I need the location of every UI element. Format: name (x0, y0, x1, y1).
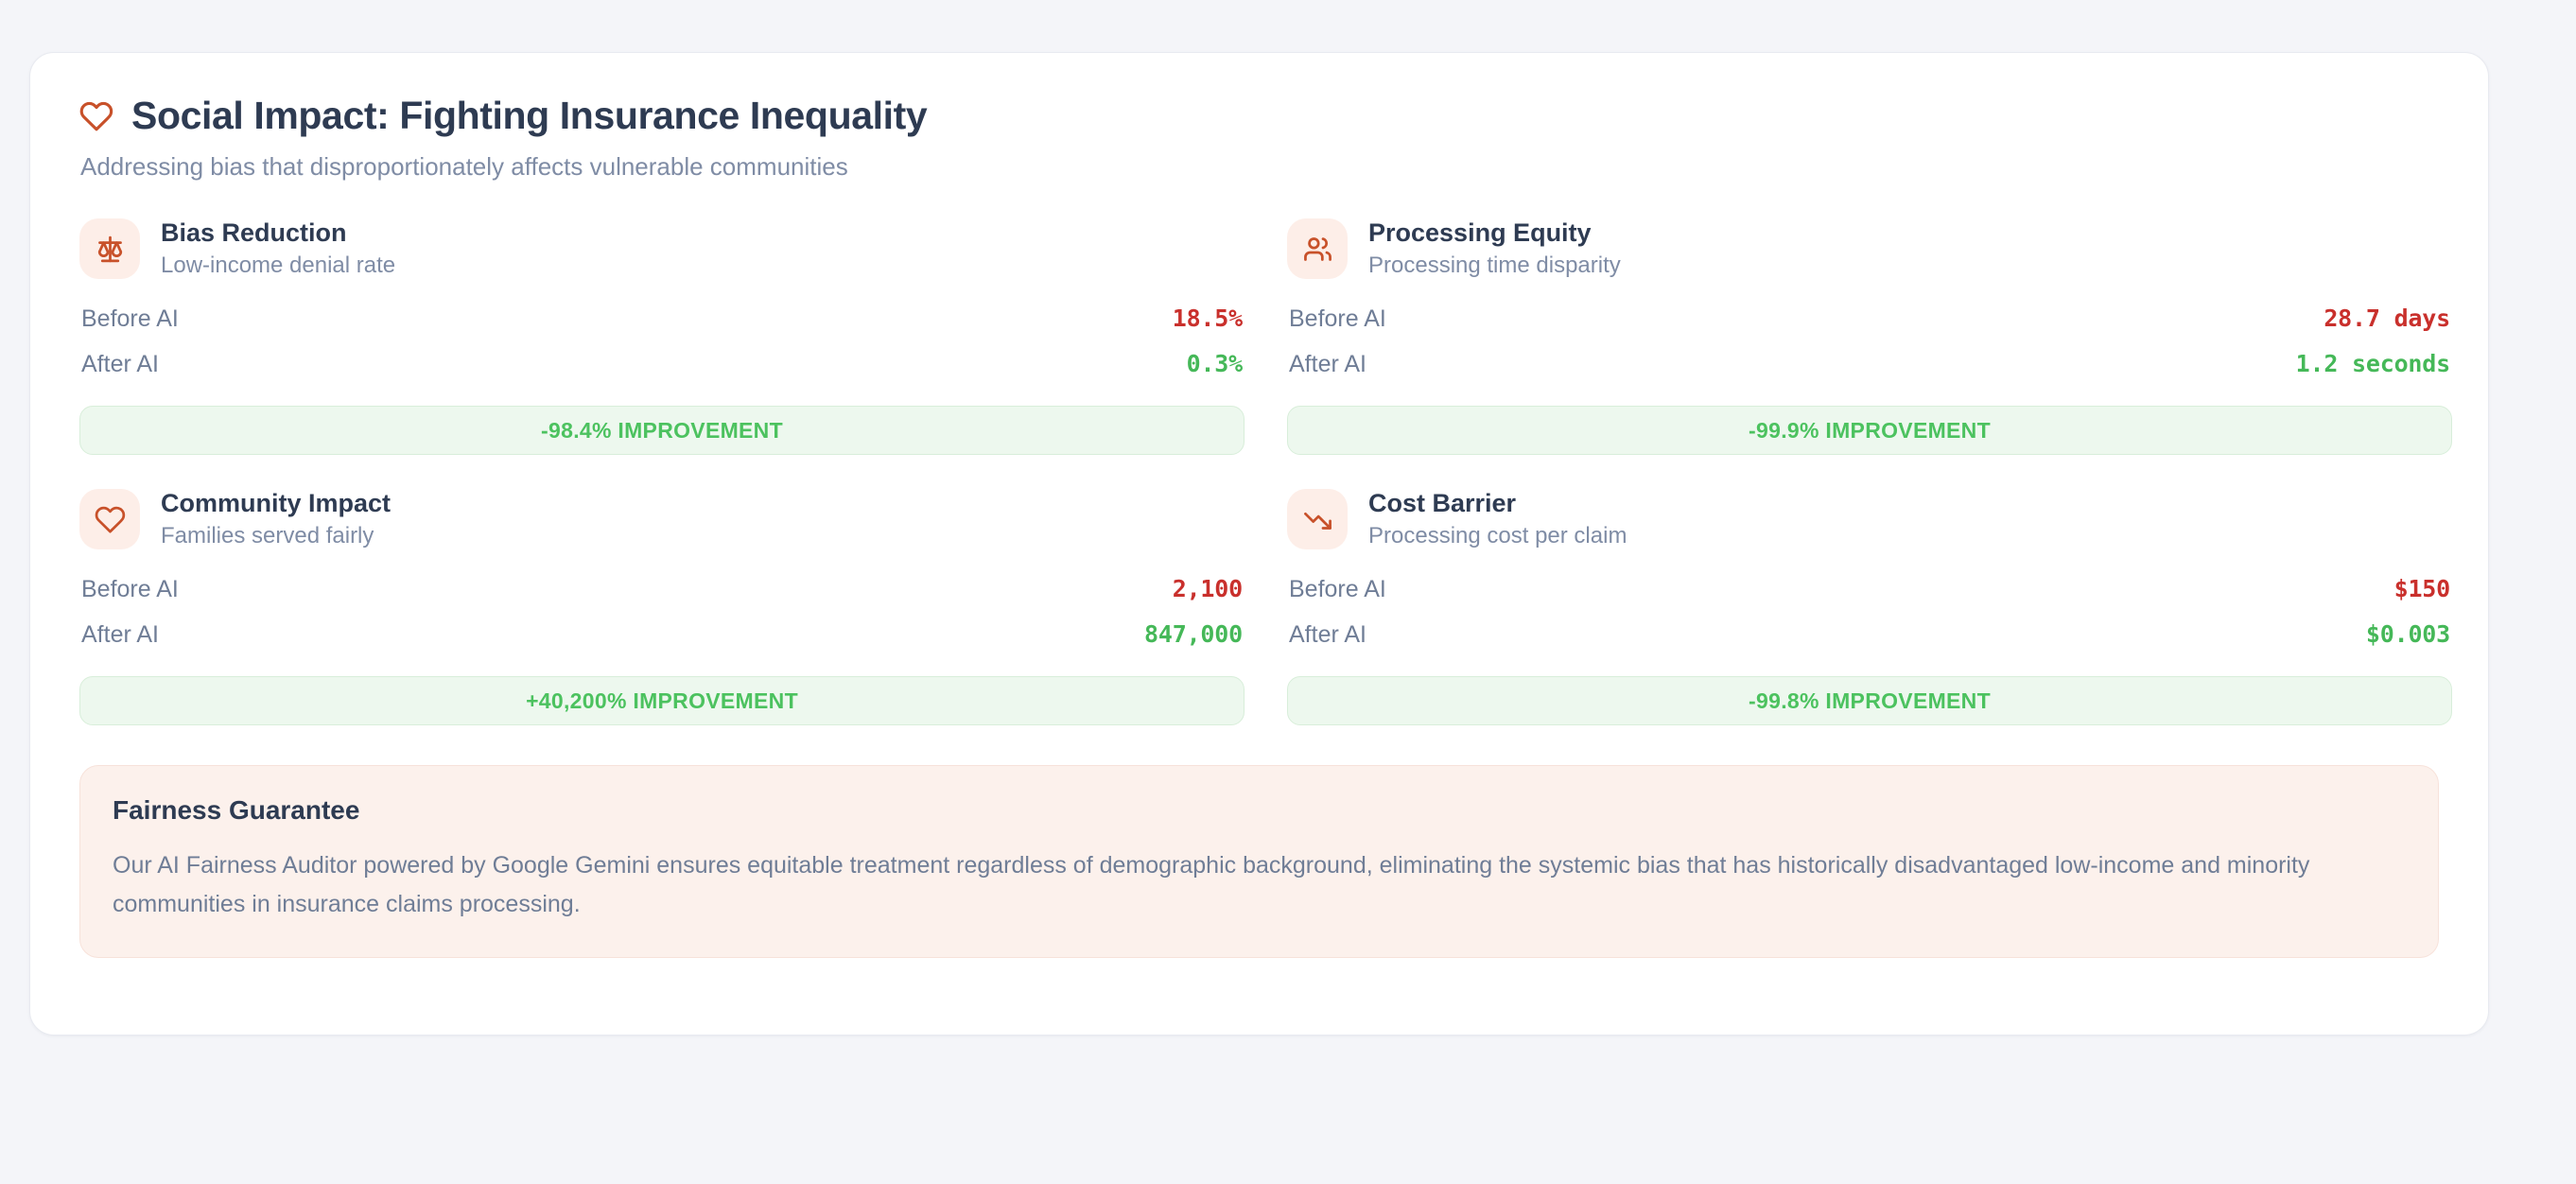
after-value: 0.3% (1187, 350, 1243, 377)
before-label: Before AI (1289, 576, 1386, 603)
page-title: Social Impact: Fighting Insurance Inequa… (131, 95, 927, 137)
after-label: After AI (81, 621, 159, 649)
metric-row-after: After AI 1.2 seconds (1287, 345, 2452, 391)
before-value: 2,100 (1173, 575, 1243, 602)
social-impact-panel: Social Impact: Fighting Insurance Inequa… (29, 52, 2489, 1036)
after-value: 1.2 seconds (2296, 350, 2450, 377)
after-label: After AI (1289, 621, 1366, 649)
metric-name: Cost Barrier (1368, 490, 1627, 518)
fairness-guarantee-body: Our AI Fairness Auditor powered by Googl… (113, 846, 2401, 923)
metric-card: Processing Equity Processing time dispar… (1287, 218, 2452, 455)
metric-header-text: Processing Equity Processing time dispar… (1368, 219, 1621, 278)
metric-card: Community Impact Families served fairly … (79, 489, 1244, 725)
fairness-guarantee-callout: Fairness Guarantee Our AI Fairness Audit… (79, 765, 2439, 958)
before-label: Before AI (81, 305, 179, 333)
scales-icon (79, 218, 140, 279)
before-value: 28.7 days (2324, 305, 2450, 332)
metrics-grid: Bias Reduction Low-income denial rate Be… (79, 218, 2439, 725)
metric-row-after: After AI 0.3% (79, 345, 1244, 391)
metric-row-after: After AI 847,000 (79, 616, 1244, 661)
after-label: After AI (81, 351, 159, 378)
metric-header: Bias Reduction Low-income denial rate (79, 218, 1244, 279)
improvement-badge: -98.4% IMPROVEMENT (79, 406, 1244, 455)
metric-description: Processing time disparity (1368, 253, 1621, 278)
metric-card: Bias Reduction Low-income denial rate Be… (79, 218, 1244, 455)
metric-header-text: Cost Barrier Processing cost per claim (1368, 490, 1627, 548)
metric-description: Families served fairly (161, 524, 391, 548)
heart-icon (79, 489, 140, 549)
improvement-badge: -99.9% IMPROVEMENT (1287, 406, 2452, 455)
before-label: Before AI (1289, 305, 1386, 333)
metric-card: Cost Barrier Processing cost per claim B… (1287, 489, 2452, 725)
before-label: Before AI (81, 576, 179, 603)
before-value: $150 (2394, 575, 2450, 602)
page-root: Social Impact: Fighting Insurance Inequa… (0, 0, 2576, 1184)
after-value: 847,000 (1144, 620, 1243, 648)
before-value: 18.5% (1173, 305, 1243, 332)
metric-header: Community Impact Families served fairly (79, 489, 1244, 549)
metric-header-text: Bias Reduction Low-income denial rate (161, 219, 395, 278)
metric-row-before: Before AI 18.5% (79, 300, 1244, 345)
metric-name: Bias Reduction (161, 219, 395, 248)
improvement-badge: -99.8% IMPROVEMENT (1287, 676, 2452, 725)
metric-header: Processing Equity Processing time dispar… (1287, 218, 2452, 279)
after-label: After AI (1289, 351, 1366, 378)
page-subtitle: Addressing bias that disproportionately … (80, 152, 2439, 182)
trending-down-icon (1287, 489, 1348, 549)
metric-header-text: Community Impact Families served fairly (161, 490, 391, 548)
metric-header: Cost Barrier Processing cost per claim (1287, 489, 2452, 549)
panel-header: Social Impact: Fighting Insurance Inequa… (79, 95, 2439, 182)
heart-icon (79, 99, 113, 133)
metric-row-before: Before AI $150 (1287, 570, 2452, 616)
metric-row-before: Before AI 2,100 (79, 570, 1244, 616)
after-value: $0.003 (2366, 620, 2450, 648)
metric-row-after: After AI $0.003 (1287, 616, 2452, 661)
fairness-guarantee-title: Fairness Guarantee (113, 796, 2406, 826)
metric-description: Low-income denial rate (161, 253, 395, 278)
metric-name: Processing Equity (1368, 219, 1621, 248)
users-icon (1287, 218, 1348, 279)
improvement-badge: +40,200% IMPROVEMENT (79, 676, 1244, 725)
metric-description: Processing cost per claim (1368, 524, 1627, 548)
metric-name: Community Impact (161, 490, 391, 518)
metric-row-before: Before AI 28.7 days (1287, 300, 2452, 345)
title-row: Social Impact: Fighting Insurance Inequa… (79, 95, 2439, 137)
